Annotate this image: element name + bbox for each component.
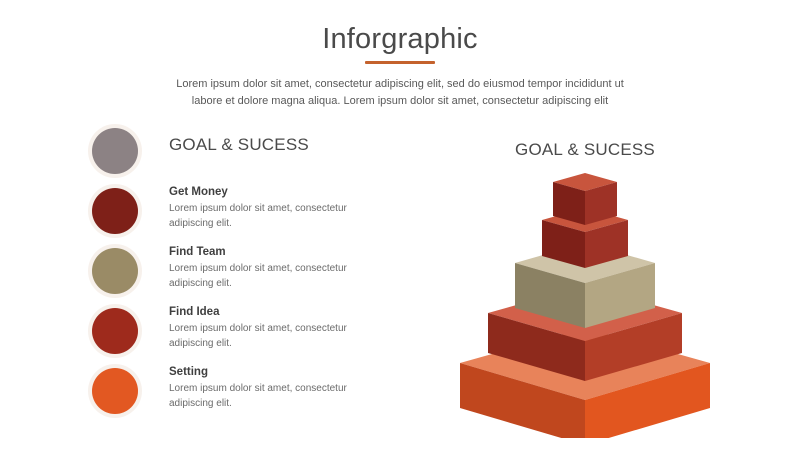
list-item-heading: GOAL & SUCESS: [169, 134, 379, 156]
bullet-circle-icon: [92, 188, 138, 234]
bullet-circle-icon: [92, 128, 138, 174]
page-title: Inforgraphic: [0, 22, 800, 56]
stacked-pyramid-diagram: [420, 168, 750, 438]
list-item-title: Find Idea: [169, 304, 379, 320]
list-item-title: Setting: [169, 364, 379, 380]
list-item-body: Setting Lorem ipsum dolor sit amet, cons…: [169, 364, 379, 411]
header: Inforgraphic Lorem ipsum dolor sit amet,…: [0, 22, 800, 110]
list-item[interactable]: Setting Lorem ipsum dolor sit amet, cons…: [92, 364, 382, 424]
list-item-description: Lorem ipsum dolor sit amet, consectetur …: [169, 262, 379, 291]
list-item-title: Find Team: [169, 244, 379, 260]
list-item[interactable]: Get Money Lorem ipsum dolor sit amet, co…: [92, 184, 382, 244]
list-item-description: Lorem ipsum dolor sit amet, consectetur …: [169, 202, 379, 231]
pyramid-level-1-top[interactable]: [553, 173, 617, 225]
list-item-description: Lorem ipsum dolor sit amet, consectetur …: [169, 382, 379, 411]
list-item[interactable]: GOAL & SUCESS: [92, 124, 382, 184]
pyramid-panel: GOAL & SUCESS: [420, 140, 750, 440]
bullet-circle-icon: [92, 308, 138, 354]
feature-list: GOAL & SUCESS Get Money Lorem ipsum dolo…: [92, 124, 382, 424]
page-subtitle: Lorem ipsum dolor sit amet, consectetur …: [160, 76, 640, 110]
pyramid-heading: GOAL & SUCESS: [420, 140, 750, 160]
bullet-circle-icon: [92, 248, 138, 294]
list-item-description: Lorem ipsum dolor sit amet, consectetur …: [169, 322, 379, 351]
list-item-body: Get Money Lorem ipsum dolor sit amet, co…: [169, 184, 379, 231]
list-item[interactable]: Find Team Lorem ipsum dolor sit amet, co…: [92, 244, 382, 304]
list-item-body: Find Team Lorem ipsum dolor sit amet, co…: [169, 244, 379, 291]
list-item-body: GOAL & SUCESS: [169, 124, 379, 156]
title-underline-accent: [365, 61, 435, 64]
list-item-body: Find Idea Lorem ipsum dolor sit amet, co…: [169, 304, 379, 351]
list-item[interactable]: Find Idea Lorem ipsum dolor sit amet, co…: [92, 304, 382, 364]
bullet-circle-icon: [92, 368, 138, 414]
list-item-title: Get Money: [169, 184, 379, 200]
